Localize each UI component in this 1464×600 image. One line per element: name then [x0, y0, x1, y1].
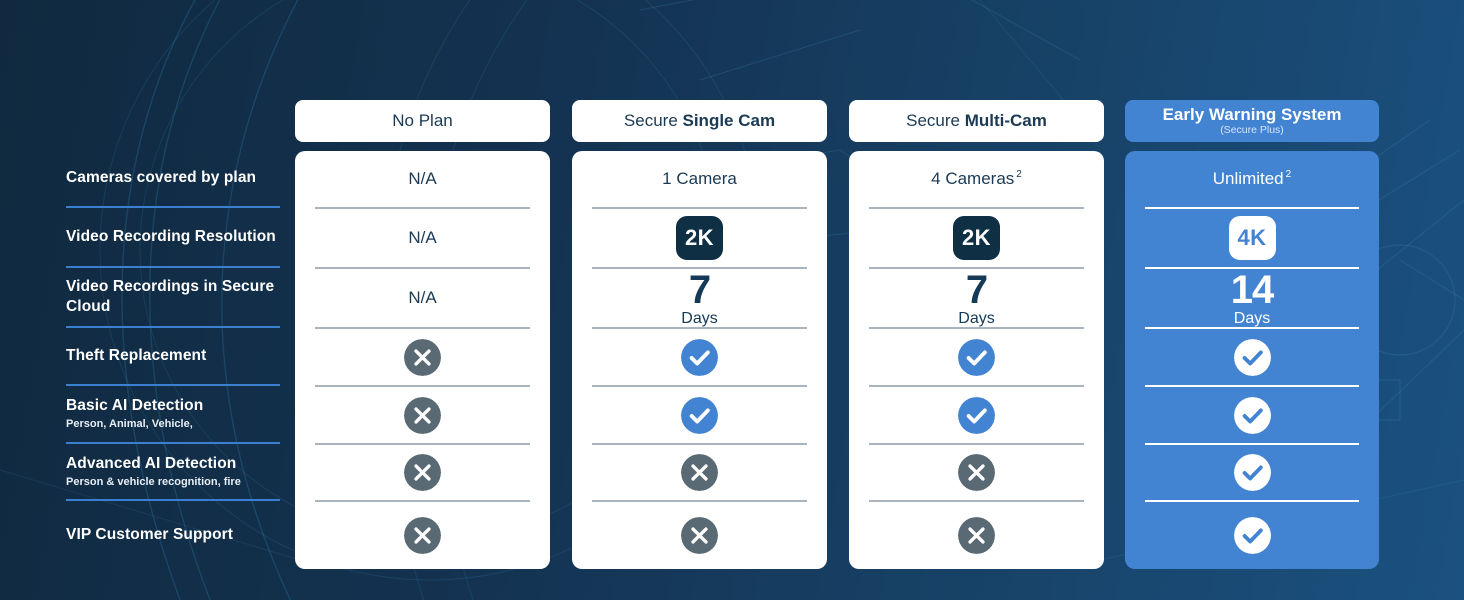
- plan-cell: [315, 502, 530, 569]
- plan-name-regular: Secure: [906, 111, 965, 130]
- plan-cell: N/A: [315, 269, 530, 329]
- feature-label-row: VIP Customer Support: [66, 501, 280, 568]
- cross-circle-icon: [958, 517, 995, 554]
- cell-value: Unlimited: [1213, 169, 1284, 188]
- plan-name: Secure Single Cam: [624, 111, 775, 131]
- cross-circle-icon: [681, 517, 718, 554]
- retention-days-label: Days: [958, 311, 994, 327]
- cross-circle-icon: [681, 454, 718, 491]
- plan-cell: [869, 329, 1084, 387]
- plan-column: No PlanN/AN/AN/A: [295, 100, 550, 569]
- feature-label-row: Video Recording Resolution: [66, 208, 280, 268]
- cell-value: 4 Cameras: [931, 169, 1014, 188]
- plan-cell: [1145, 387, 1359, 445]
- retention-days-number: 14: [1231, 270, 1274, 310]
- feature-label-column: Cameras covered by planVideo Recording R…: [66, 150, 280, 568]
- plan-cell: [592, 502, 807, 569]
- plan-column: Secure Single Cam1 Camera2K7Days: [572, 100, 827, 569]
- plan-cell: [869, 387, 1084, 445]
- cross-circle-icon: [404, 517, 441, 554]
- cell-text: N/A: [408, 288, 436, 308]
- cell-text: 1 Camera: [662, 169, 737, 189]
- cell-value: N/A: [408, 169, 436, 188]
- plan-cell: [1145, 502, 1359, 569]
- cell-footnote-marker: 2: [1286, 169, 1292, 180]
- cross-circle-icon: [404, 339, 441, 376]
- cross-circle-icon: [404, 397, 441, 434]
- feature-label-title: Video Recording Resolution: [66, 227, 280, 247]
- resolution-badge: 2K: [676, 216, 723, 260]
- plan-body: 1 Camera2K7Days: [572, 151, 827, 569]
- feature-label-title: Video Recordings in Secure Cloud: [66, 277, 280, 317]
- feature-label-row: Video Recordings in Secure Cloud: [66, 268, 280, 328]
- feature-label-row: Advanced AI DetectionPerson & vehicle re…: [66, 444, 280, 501]
- plan-name: Secure Multi-Cam: [906, 111, 1047, 131]
- cross-circle-icon: [404, 454, 441, 491]
- feature-label-row: Cameras covered by plan: [66, 150, 280, 208]
- cell-text: Unlimited2: [1213, 169, 1291, 189]
- plan-cell: [1145, 329, 1359, 387]
- check-circle-icon: [958, 397, 995, 434]
- plan-name: No Plan: [392, 111, 452, 131]
- plan-column: Secure Multi-Cam4 Cameras22K7Days: [849, 100, 1104, 569]
- retention-days-number: 7: [966, 270, 987, 310]
- check-circle-icon: [681, 339, 718, 376]
- check-circle-icon: [1234, 339, 1271, 376]
- plan-cell: 14Days: [1145, 269, 1359, 329]
- plan-cell: [315, 329, 530, 387]
- plan-header[interactable]: No Plan: [295, 100, 550, 142]
- feature-label-title: Advanced AI Detection: [66, 454, 280, 474]
- check-circle-icon: [1234, 454, 1271, 491]
- plan-cell: 7Days: [592, 269, 807, 329]
- cell-text: N/A: [408, 169, 436, 189]
- cell-footnote-marker: 2: [1016, 169, 1022, 180]
- plan-header[interactable]: Secure Single Cam: [572, 100, 827, 142]
- retention-days-number: 7: [689, 270, 710, 310]
- retention-days: 14Days: [1231, 270, 1274, 327]
- check-circle-icon: [681, 397, 718, 434]
- plan-body: N/AN/AN/A: [295, 151, 550, 569]
- plan-cell: 7Days: [869, 269, 1084, 329]
- plan-cell: N/A: [315, 209, 530, 269]
- cell-value: 1 Camera: [662, 169, 737, 188]
- feature-label-subtitle: Person, Animal, Vehicle,: [66, 418, 280, 432]
- resolution-badge: 2K: [953, 216, 1000, 260]
- plan-name: Early Warning System: [1163, 105, 1342, 125]
- plan-cell: 2K: [869, 209, 1084, 269]
- feature-label-title: Basic AI Detection: [66, 396, 280, 416]
- feature-label-row: Theft Replacement: [66, 328, 280, 386]
- check-circle-icon: [958, 339, 995, 376]
- resolution-badge: 4K: [1229, 216, 1276, 260]
- retention-days-label: Days: [1234, 311, 1270, 327]
- plan-name-bold: Early Warning System: [1163, 105, 1342, 124]
- plan-cell: 2K: [592, 209, 807, 269]
- plan-cell: 1 Camera: [592, 151, 807, 209]
- plan-cell: [315, 387, 530, 445]
- plan-subtitle: (Secure Plus): [1220, 125, 1284, 136]
- plan-cell: [592, 387, 807, 445]
- retention-days: 7Days: [958, 270, 994, 327]
- plan-cell: [869, 502, 1084, 569]
- plan-cell: [1145, 445, 1359, 502]
- check-circle-icon: [1234, 517, 1271, 554]
- feature-label-title: Cameras covered by plan: [66, 168, 280, 188]
- plan-cell: [592, 329, 807, 387]
- retention-days-label: Days: [681, 311, 717, 327]
- feature-label-title: VIP Customer Support: [66, 525, 280, 545]
- feature-label-row: Basic AI DetectionPerson, Animal, Vehicl…: [66, 386, 280, 444]
- feature-label-subtitle: Person & vehicle recognition, fire: [66, 476, 280, 490]
- plan-cell: N/A: [315, 151, 530, 209]
- feature-label-title: Theft Replacement: [66, 346, 280, 366]
- retention-days: 7Days: [681, 270, 717, 327]
- plan-cell: 4 Cameras2: [869, 151, 1084, 209]
- plan-name-bold: Multi-Cam: [965, 111, 1047, 130]
- plan-comparison-table: Cameras covered by planVideo Recording R…: [0, 0, 1464, 600]
- cell-value: N/A: [408, 288, 436, 307]
- cell-value: N/A: [408, 228, 436, 247]
- plan-cell: Unlimited2: [1145, 151, 1359, 209]
- plan-header[interactable]: Early Warning System(Secure Plus): [1125, 100, 1379, 142]
- plan-name-regular: No Plan: [392, 111, 452, 130]
- plan-header[interactable]: Secure Multi-Cam: [849, 100, 1104, 142]
- plan-cell: [869, 445, 1084, 502]
- cross-circle-icon: [958, 454, 995, 491]
- check-circle-icon: [1234, 397, 1271, 434]
- plan-cell: [315, 445, 530, 502]
- plan-body: 4 Cameras22K7Days: [849, 151, 1104, 569]
- plan-name-regular: Secure: [624, 111, 683, 130]
- plan-name-bold: Single Cam: [683, 111, 776, 130]
- plan-cell: [592, 445, 807, 502]
- plan-column: Early Warning System(Secure Plus)Unlimit…: [1125, 100, 1379, 569]
- plan-cell: 4K: [1145, 209, 1359, 269]
- cell-text: 4 Cameras2: [931, 169, 1022, 189]
- plan-body: Unlimited24K14Days: [1125, 151, 1379, 569]
- cell-text: N/A: [408, 228, 436, 248]
